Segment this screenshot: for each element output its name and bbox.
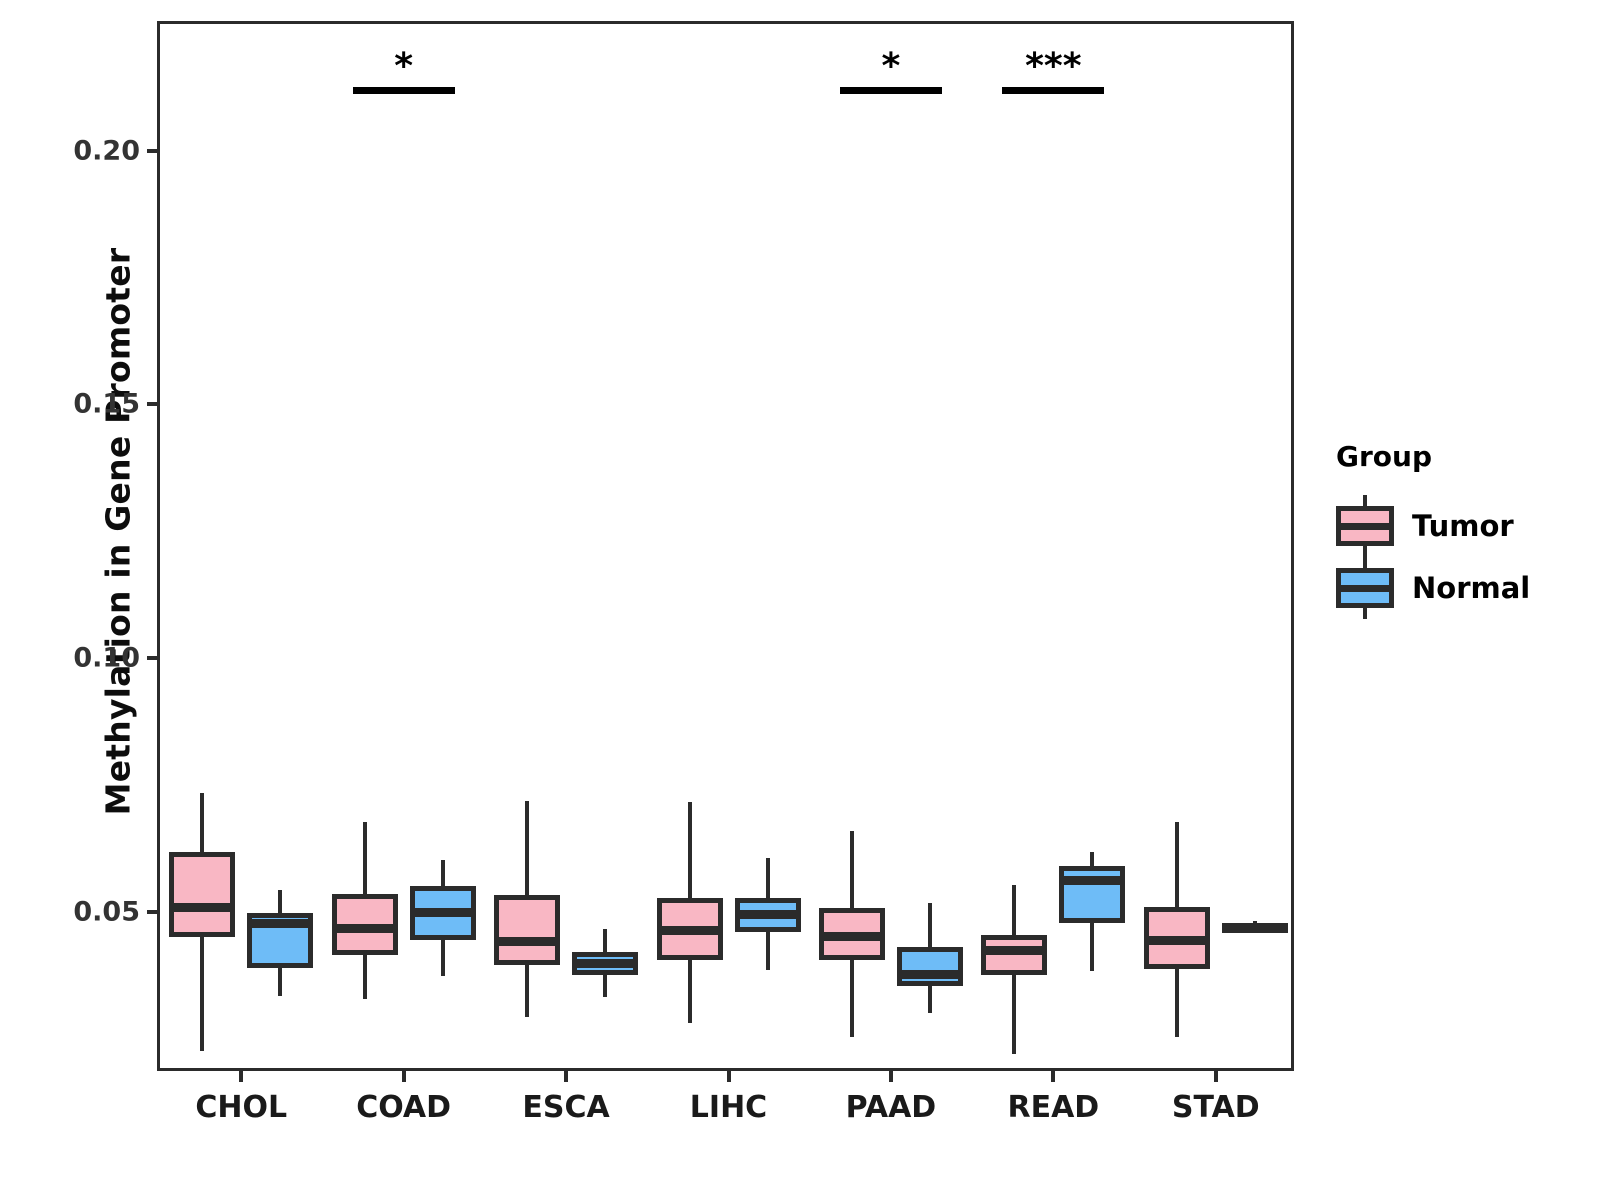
- boxplot-paad-tumor: [819, 24, 885, 1074]
- x-axis-tick-mark: [1214, 1068, 1218, 1082]
- x-axis-tick-label-coad: COAD: [356, 1090, 451, 1125]
- x-axis-tick-mark: [1051, 1068, 1055, 1082]
- boxplot-coad-normal: [410, 24, 476, 1074]
- legend: Group TumorNormal: [1336, 440, 1586, 619]
- legend-label: Tumor: [1412, 509, 1514, 543]
- x-axis-tick-mark: [239, 1068, 243, 1082]
- boxplot-paad-normal: [897, 24, 963, 1074]
- box-iqr: [897, 947, 963, 987]
- median-line: [247, 919, 313, 928]
- plot-area: 0.050.100.150.20CHOLCOADESCALIHCPAADREAD…: [160, 24, 1291, 1068]
- y-axis-tick-mark: [147, 910, 160, 914]
- legend-median: [1336, 523, 1394, 530]
- y-axis-title: Methylation in Gene Promoter: [99, 182, 138, 882]
- boxplot-lihc-tumor: [657, 24, 723, 1074]
- boxplot-chol-normal: [247, 24, 313, 1074]
- boxplot-read-tumor: [981, 24, 1047, 1074]
- legend-item-tumor[interactable]: Tumor: [1336, 495, 1586, 557]
- box-iqr: [169, 852, 235, 937]
- boxplot-stad-tumor: [1144, 24, 1210, 1074]
- y-axis-tick-mark: [147, 149, 160, 153]
- y-axis-tick-label: 0.05: [73, 896, 140, 927]
- box-iqr: [494, 895, 560, 966]
- boxplot-esca-normal: [572, 24, 638, 1074]
- x-axis-tick-label-lihc: LIHC: [690, 1090, 767, 1125]
- x-axis-tick-label-paad: PAAD: [846, 1090, 937, 1125]
- median-line: [1059, 876, 1125, 885]
- significance-bracket-read: [1002, 87, 1104, 94]
- boxplot-chol-tumor: [169, 24, 235, 1074]
- y-axis-tick-label: 0.20: [73, 135, 140, 166]
- x-axis-tick-mark: [889, 1068, 893, 1082]
- median-line: [819, 932, 885, 941]
- legend-item-normal[interactable]: Normal: [1336, 557, 1586, 619]
- y-axis-tick-mark: [147, 402, 160, 406]
- significance-bracket-paad: [840, 87, 942, 94]
- median-line: [332, 924, 398, 933]
- legend-median: [1336, 585, 1394, 592]
- legend-key-swatch: [1336, 557, 1394, 619]
- median-line: [494, 937, 560, 946]
- significance-label-paad: *: [882, 49, 901, 85]
- boxplot-stad-normal: [1222, 24, 1288, 1074]
- median-line: [169, 903, 235, 912]
- y-axis-tick-label: 0.15: [73, 389, 140, 420]
- boxplot-coad-tumor: [332, 24, 398, 1074]
- boxplot-read-normal: [1059, 24, 1125, 1074]
- median-line: [410, 908, 476, 917]
- significance-label-coad: *: [394, 49, 413, 85]
- y-axis-tick-label: 0.10: [73, 643, 140, 674]
- x-axis-tick-label-read: READ: [1007, 1090, 1099, 1125]
- legend-title: Group: [1336, 440, 1586, 473]
- x-axis-tick-label-esca: ESCA: [522, 1090, 609, 1125]
- significance-bracket-coad: [353, 87, 455, 94]
- legend-entries: TumorNormal: [1336, 495, 1586, 619]
- x-axis-tick-mark: [564, 1068, 568, 1082]
- x-axis-tick-label-chol: CHOL: [195, 1090, 287, 1125]
- median-line: [981, 946, 1047, 955]
- median-line: [657, 926, 723, 935]
- boxplot-lihc-normal: [735, 24, 801, 1074]
- median-line: [735, 910, 801, 919]
- plot-panel: 0.050.100.150.20CHOLCOADESCALIHCPAADREAD…: [157, 21, 1294, 1071]
- median-line: [572, 959, 638, 968]
- boxplot-esca-tumor: [494, 24, 560, 1074]
- chart-root: Methylation in Gene Promoter 0.050.100.1…: [0, 0, 1600, 1200]
- box-iqr: [1059, 866, 1125, 923]
- x-axis-tick-mark: [727, 1068, 731, 1082]
- x-axis-tick-mark: [402, 1068, 406, 1082]
- legend-label: Normal: [1412, 571, 1530, 605]
- median-line: [897, 970, 963, 979]
- legend-key-swatch: [1336, 495, 1394, 557]
- x-axis-tick-label-stad: STAD: [1172, 1090, 1260, 1125]
- median-line: [1144, 936, 1210, 945]
- median-line: [1222, 923, 1288, 932]
- y-axis-tick-mark: [147, 656, 160, 660]
- significance-label-read: ***: [1025, 49, 1081, 85]
